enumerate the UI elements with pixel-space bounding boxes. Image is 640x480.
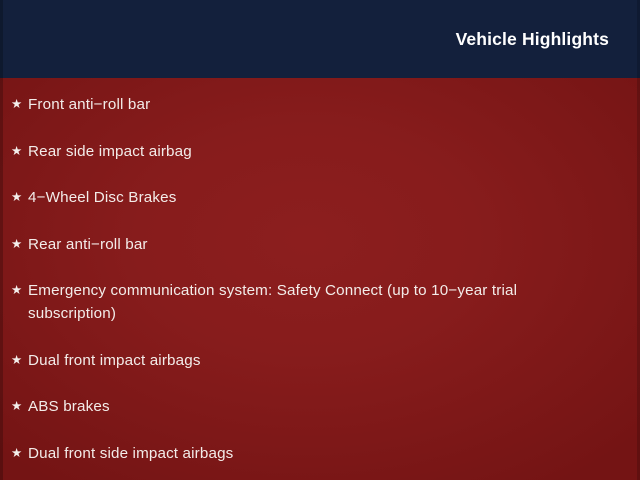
list-item: ★ 4−Wheel Disc Brakes: [0, 186, 640, 209]
list-item: ★ Rear side impact airbag: [0, 140, 640, 163]
star-bullet-icon: ★: [11, 395, 28, 418]
list-item-label: Rear anti−roll bar: [28, 233, 594, 256]
list-item-label: 4−Wheel Disc Brakes: [28, 186, 594, 209]
list-item: ★ Front anti−roll bar: [0, 93, 640, 116]
vehicle-highlights-list: ★ Front anti−roll bar ★ Rear side impact…: [0, 78, 640, 480]
list-item-label: Rear side impact airbag: [28, 140, 594, 163]
star-bullet-icon: ★: [11, 279, 28, 302]
star-bullet-icon: ★: [11, 233, 28, 256]
star-bullet-icon: ★: [11, 349, 28, 372]
vehicle-highlights-slide: Vehicle Highlights ★ Front anti−roll bar…: [0, 0, 640, 480]
list-item-label: ABS brakes: [28, 395, 594, 418]
list-item: ★ Dual front impact airbags: [0, 349, 640, 372]
list-item-label: Emergency communication system: Safety C…: [28, 279, 594, 325]
list-item-label: Dual front side impact airbags: [28, 442, 594, 465]
list-item: ★ Emergency communication system: Safety…: [0, 279, 640, 325]
star-bullet-icon: ★: [11, 140, 28, 163]
star-bullet-icon: ★: [11, 93, 28, 116]
list-item: ★ Dual front side impact airbags: [0, 442, 640, 465]
star-bullet-icon: ★: [11, 442, 28, 465]
star-bullet-icon: ★: [11, 186, 28, 209]
page-title: Vehicle Highlights: [456, 29, 609, 49]
list-item-label: Dual front impact airbags: [28, 349, 594, 372]
list-item-label: Front anti−roll bar: [28, 93, 594, 116]
list-item: ★ ABS brakes: [0, 395, 640, 418]
list-item: ★ Rear anti−roll bar: [0, 233, 640, 256]
slide-header-band: Vehicle Highlights: [0, 0, 640, 78]
